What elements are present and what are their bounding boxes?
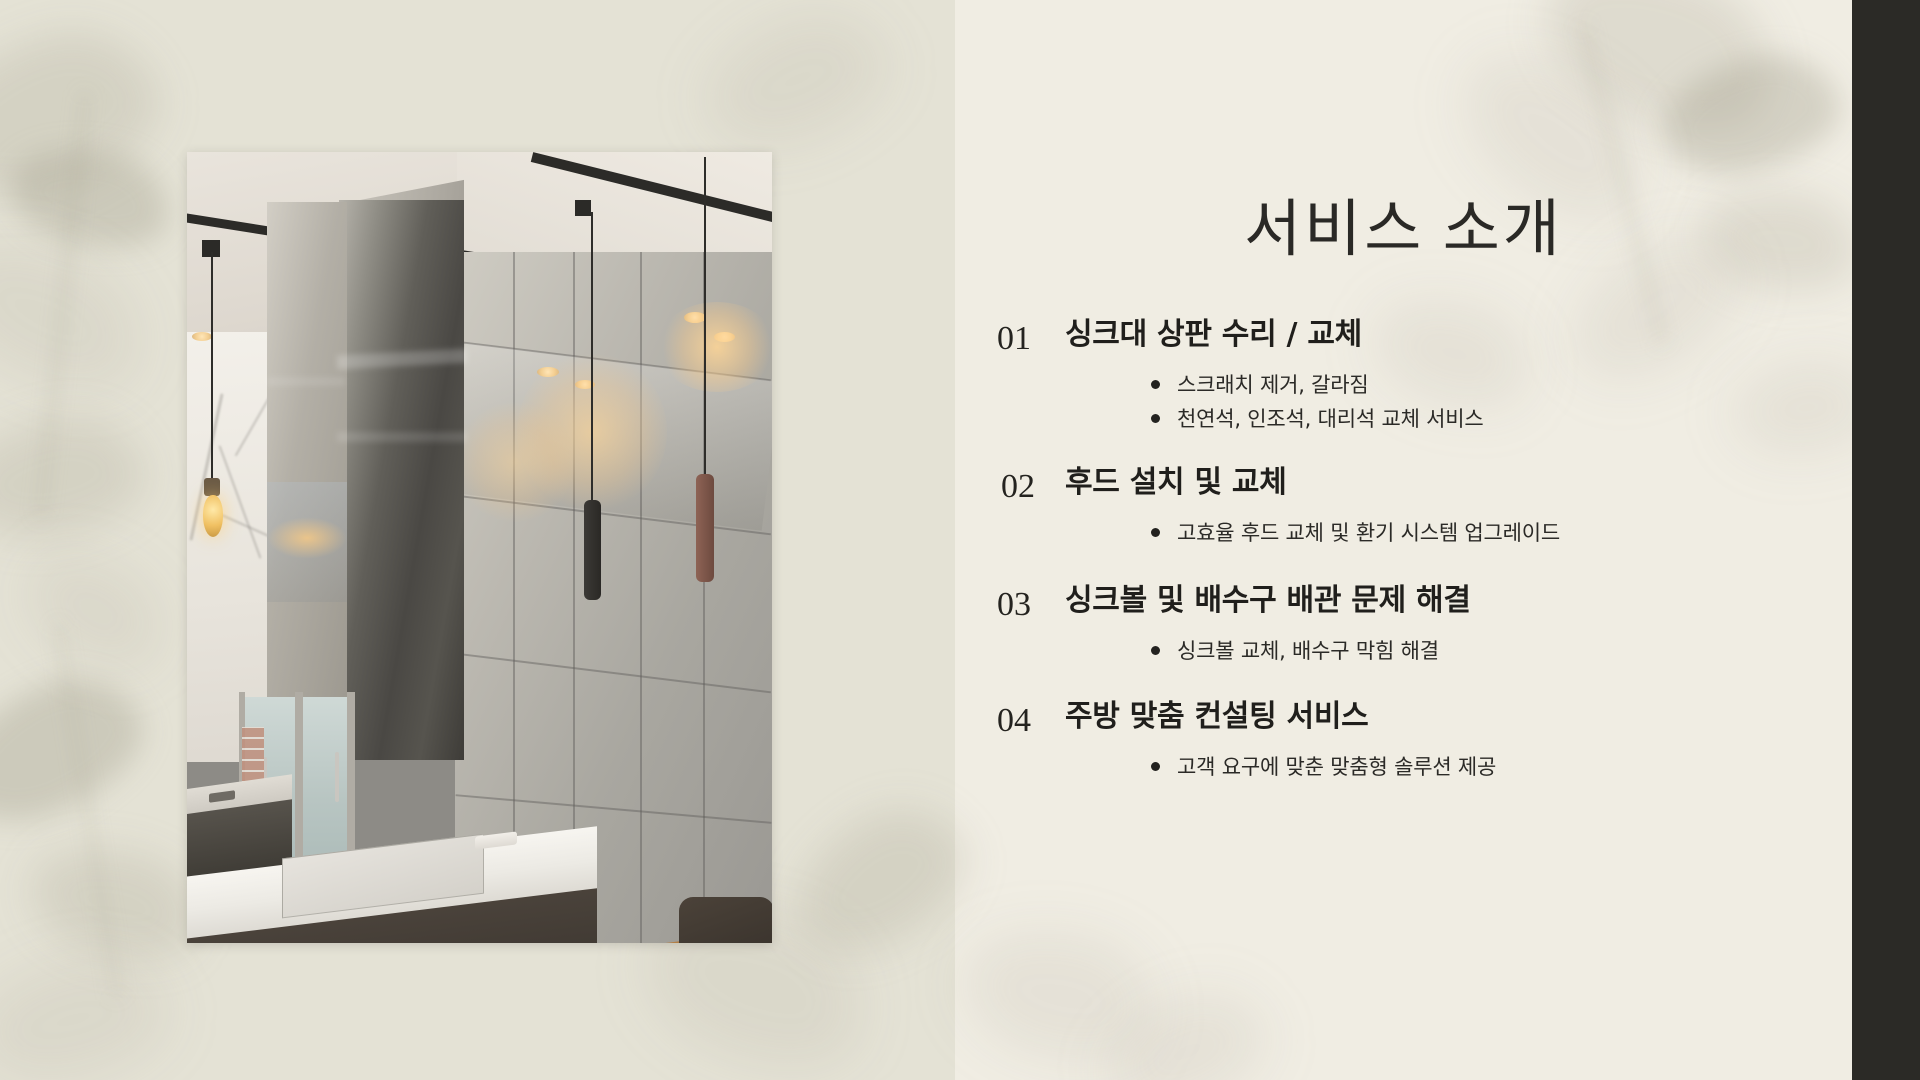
service-item-02: 02 후드 설치 및 교체 고효율 후드 교체 및 환기 시스템 업그레이드	[955, 466, 1852, 550]
service-item-row: 02 후드 설치 및 교체	[955, 466, 1852, 504]
kitchen-interior-photo	[187, 152, 772, 943]
bullet-dot-icon	[1151, 762, 1160, 771]
service-heading-01: 싱크대 상판 수리 / 교체	[1065, 318, 1362, 351]
service-heading-02: 후드 설치 및 교체	[1065, 466, 1287, 499]
service-number-02: 02	[955, 466, 1065, 504]
photo-edison-bulb	[203, 495, 223, 537]
bullet-text: 고객 요구에 맞춘 맞춤형 솔루션 제공	[1177, 755, 1496, 779]
photo-light-glow	[657, 302, 772, 392]
list-item: 고객 요구에 맞춘 맞춤형 솔루션 제공	[1151, 750, 1852, 784]
bullet-dot-icon	[1151, 380, 1160, 389]
photo-column-sheen	[337, 432, 467, 442]
bullet-dot-icon	[1151, 528, 1160, 537]
service-bullets-03: 싱크볼 교체, 배수구 막힘 해결	[955, 634, 1852, 668]
photo-door-handle	[335, 752, 339, 802]
service-item-row: 01 싱크대 상판 수리 / 교체	[955, 318, 1852, 356]
photo-hood-column	[339, 200, 464, 760]
photo-pendant-cord	[591, 212, 593, 502]
bullet-dot-icon	[1151, 414, 1160, 423]
service-item-row: 04 주방 맞춤 컨설팅 서비스	[955, 700, 1852, 738]
service-item-03: 03 싱크볼 및 배수구 배관 문제 해결 싱크볼 교체, 배수구 막힘 해결	[955, 584, 1852, 668]
service-bullets-04: 고객 요구에 맞춘 맞춤형 솔루션 제공	[955, 750, 1852, 784]
photo-pendant-cord	[704, 157, 706, 477]
service-bullets-02: 고효율 후드 교체 및 환기 시스템 업그레이드	[955, 516, 1852, 550]
list-item: 고효율 후드 교체 및 환기 시스템 업그레이드	[1151, 516, 1852, 550]
photo-pendant-socket	[204, 478, 220, 496]
service-bullets-01: 스크래치 제거, 갈라짐 천연석, 인조석, 대리석 교체 서비스	[955, 368, 1852, 436]
photo-dining-chair	[679, 897, 772, 943]
photo-pendant-lamp	[696, 474, 714, 582]
service-item-04: 04 주방 맞춤 컨설팅 서비스 고객 요구에 맞춘 맞춤형 솔루션 제공	[955, 700, 1852, 784]
photo-light-glow	[455, 402, 575, 522]
service-number-03: 03	[955, 584, 1065, 622]
bullet-text: 싱크볼 교체, 배수구 막힘 해결	[1177, 639, 1439, 663]
list-item: 싱크볼 교체, 배수구 막힘 해결	[1151, 634, 1852, 668]
page-title: 서비스 소개	[955, 178, 1852, 268]
list-item: 스크래치 제거, 갈라짐	[1151, 368, 1852, 402]
service-item-01: 01 싱크대 상판 수리 / 교체 스크래치 제거, 갈라짐 천연석, 인조석,…	[955, 318, 1852, 436]
service-list: 01 싱크대 상판 수리 / 교체 스크래치 제거, 갈라짐 천연석, 인조석,…	[955, 318, 1852, 788]
service-heading-03: 싱크볼 및 배수구 배관 문제 해결	[1065, 584, 1471, 617]
service-heading-04: 주방 맞춤 컨설팅 서비스	[1065, 700, 1368, 733]
photo-column-reflection-glow	[267, 517, 347, 559]
bullet-dot-icon	[1151, 646, 1160, 655]
bullet-text: 천연석, 인조석, 대리석 교체 서비스	[1177, 407, 1484, 431]
right-edge-bar	[1852, 0, 1920, 1080]
slide-canvas: 서비스 소개 01 싱크대 상판 수리 / 교체 스크래치 제거, 갈라짐 천연…	[0, 0, 1920, 1080]
service-number-01: 01	[955, 318, 1065, 356]
bullet-text: 고효율 후드 교체 및 환기 시스템 업그레이드	[1177, 521, 1560, 545]
bullet-text: 스크래치 제거, 갈라짐	[1177, 373, 1369, 397]
photo-column-sheen	[267, 377, 345, 386]
service-item-row: 03 싱크볼 및 배수구 배관 문제 해결	[955, 584, 1852, 622]
photo-pendant-cord	[211, 252, 213, 480]
service-number-04: 04	[955, 700, 1065, 738]
photo-recessed-light	[192, 332, 212, 341]
photo-rail-connector	[575, 200, 591, 216]
photo-pendant-lamp	[584, 500, 601, 600]
list-item: 천연석, 인조석, 대리석 교체 서비스	[1151, 402, 1852, 436]
